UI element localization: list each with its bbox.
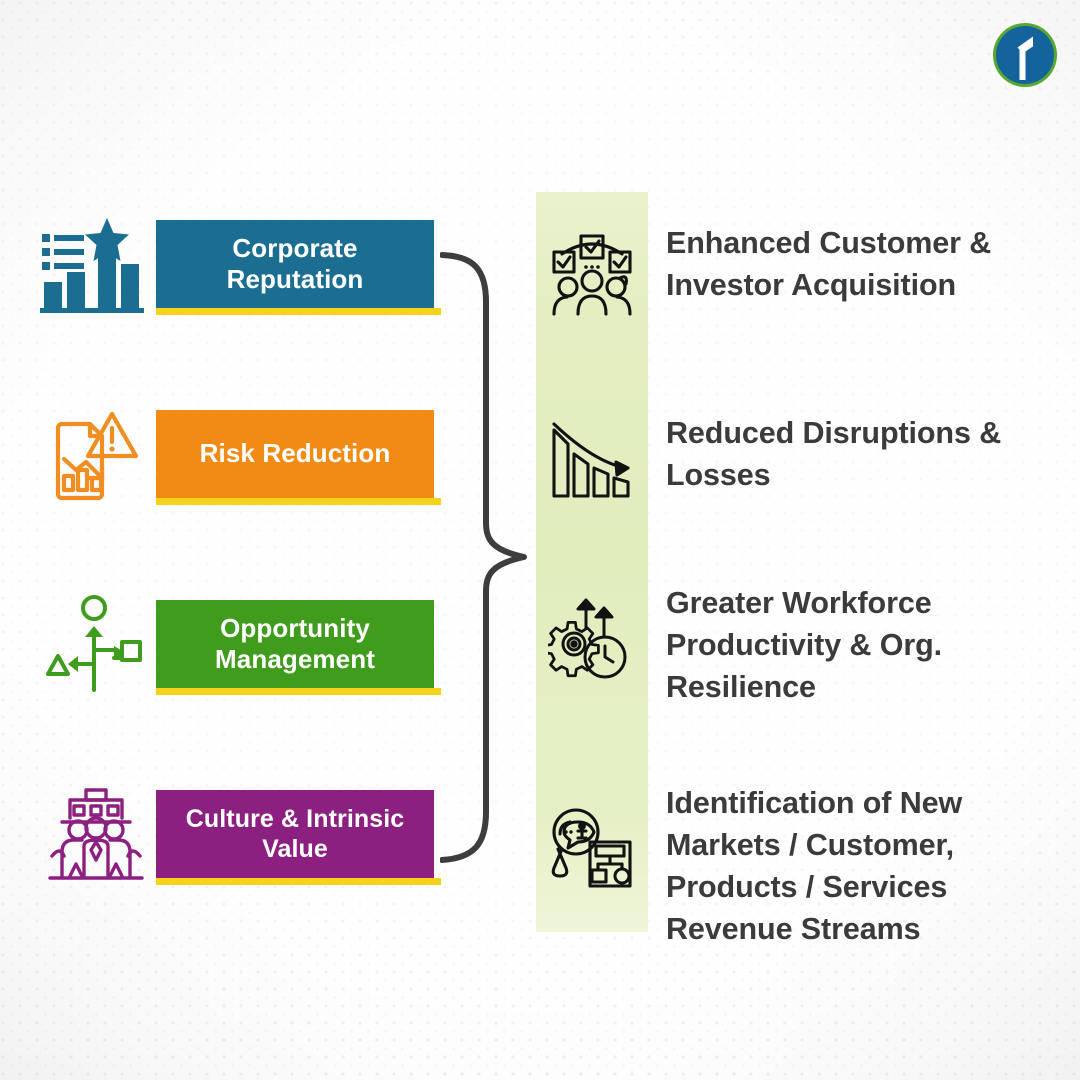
benefit-text-workforce-productivity: Greater Workforce Productivity & Org. Re…	[666, 582, 1066, 708]
driver-label-risk-reduction: Risk Reduction	[200, 438, 391, 469]
people-checklist-icon	[548, 230, 636, 318]
benefit-text-reduced-disruptions: Reduced Disruptions & Losses	[666, 412, 1066, 496]
company-i-logo	[992, 22, 1058, 88]
magnifier-org-chart-icon	[548, 804, 636, 892]
driver-underline-risk-reduction	[156, 498, 441, 505]
gear-clock-up-arrows-icon	[548, 592, 636, 680]
driver-box-culture-intrinsic-value[interactable]: Culture & IntrinsicValue	[156, 790, 434, 878]
benefit-text-new-markets-revenue: Identification of New Markets / Customer…	[666, 782, 1066, 950]
driver-row-culture-intrinsic-value: Culture & IntrinsicValue	[40, 778, 450, 888]
driver-underline-opportunity-management	[156, 688, 441, 695]
driver-box-corporate-reputation[interactable]: CorporateReputation	[156, 220, 434, 308]
opportunity-arrows-shapes-icon	[46, 594, 144, 694]
infographic-canvas: CorporateReputation	[0, 0, 1080, 1080]
driver-box-opportunity-management[interactable]: OpportunityManagement	[156, 600, 434, 688]
declining-bar-chart-arrow-icon	[548, 416, 636, 504]
curly-brace-connector	[440, 250, 550, 865]
driver-row-risk-reduction: Risk Reduction	[40, 398, 450, 508]
benefit-text-customer-investor-acquisition: Enhanced Customer & Investor Acquisition	[666, 222, 1066, 306]
driver-box-risk-reduction[interactable]: Risk Reduction	[156, 410, 434, 498]
bar-chart-star-icon	[40, 216, 144, 316]
driver-row-corporate-reputation: CorporateReputation	[40, 208, 450, 318]
driver-label-culture-intrinsic-value: Culture & IntrinsicValue	[186, 804, 405, 864]
driver-label-opportunity-management: OpportunityManagement	[215, 613, 375, 675]
driver-row-opportunity-management: OpportunityManagement	[40, 588, 450, 698]
driver-underline-culture-intrinsic-value	[156, 878, 441, 885]
driver-underline-corporate-reputation	[156, 308, 441, 315]
driver-label-corporate-reputation: CorporateReputation	[227, 233, 364, 295]
building-people-culture-icon	[48, 784, 144, 884]
risk-document-warning-icon	[50, 404, 144, 504]
